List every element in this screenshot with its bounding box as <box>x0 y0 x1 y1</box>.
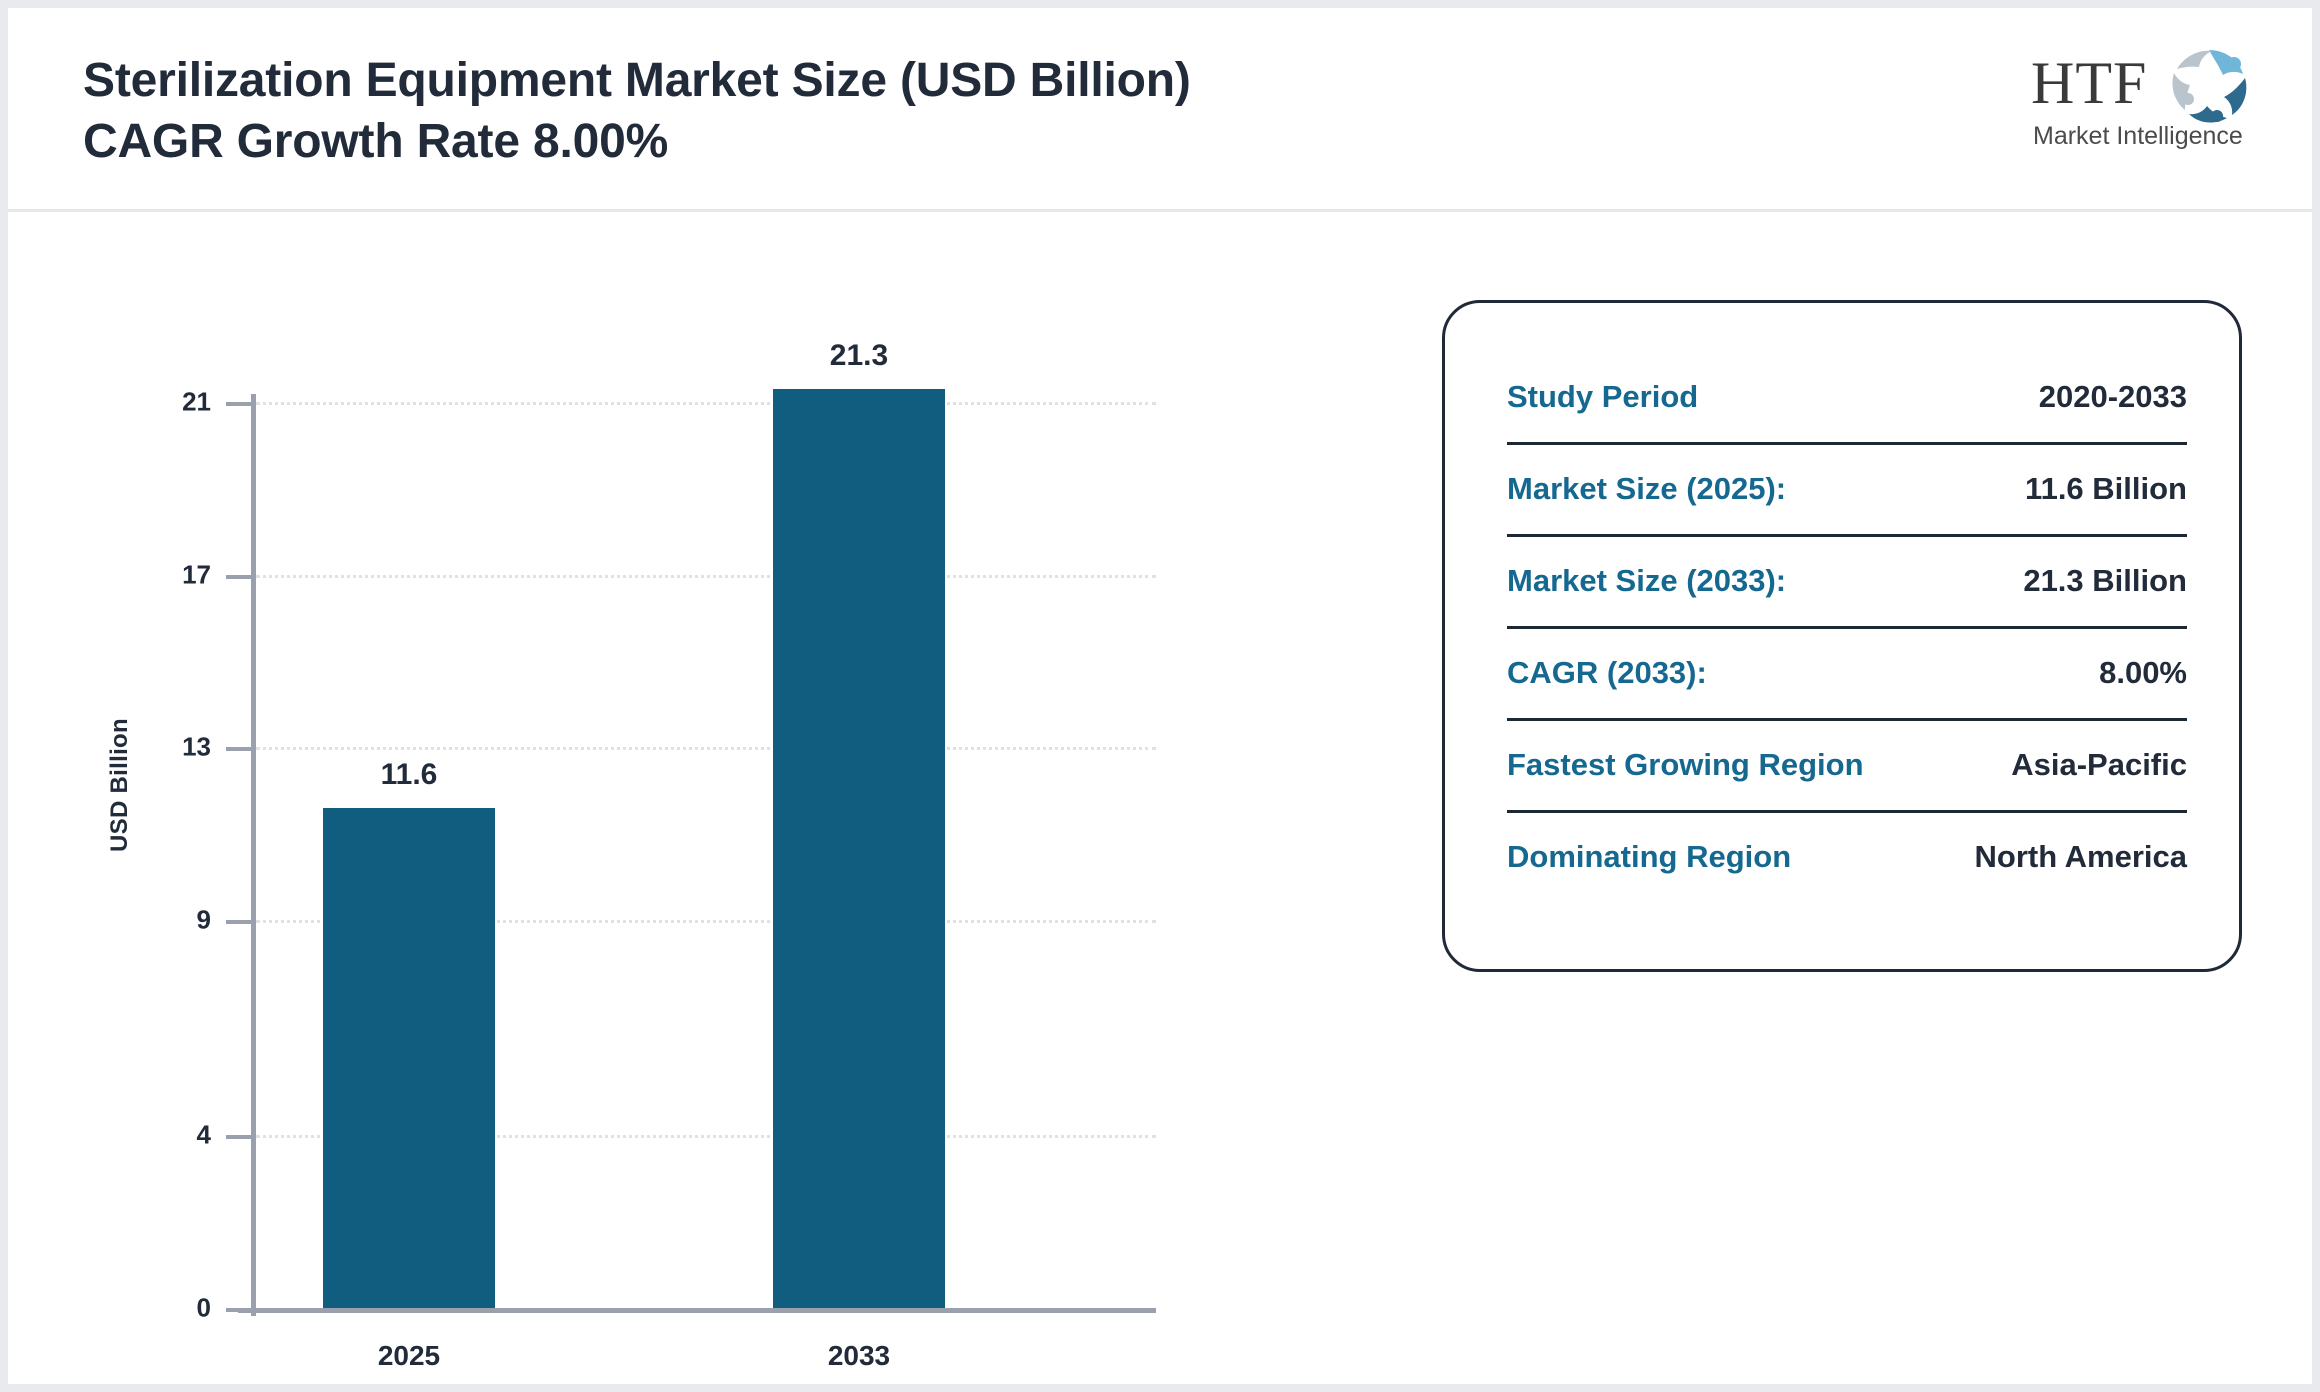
y-tick-label: 13 <box>91 732 211 763</box>
summary-row-value: Asia-Pacific <box>2011 721 2187 783</box>
y-tick-label: 9 <box>91 904 211 935</box>
gridline <box>256 402 1156 405</box>
bar-chart: USD Billion 049131721 11.621.3 20252033 <box>8 212 1288 1382</box>
bar[interactable] <box>773 389 945 1308</box>
summary-row-value: 11.6 Billion <box>2025 445 2187 507</box>
bar[interactable] <box>323 808 495 1308</box>
y-tick-label: 4 <box>91 1120 211 1151</box>
summary-row: Dominating RegionNorth America <box>1507 813 2187 905</box>
logo-mark: HTF <box>2027 44 2259 124</box>
summary-row-value: North America <box>1975 813 2187 875</box>
market-summary-table: Study Period2020-2033Market Size (2025):… <box>1507 353 2187 905</box>
summary-row-value: 2020-2033 <box>2039 353 2187 415</box>
summary-row-label: Dominating Region <box>1507 813 1791 875</box>
y-tick-label: 21 <box>91 387 211 418</box>
summary-row-label: Study Period <box>1507 353 1698 415</box>
summary-row: Market Size (2033):21.3 Billion <box>1507 537 2187 629</box>
x-axis-label: 2025 <box>283 1340 535 1372</box>
summary-row: Fastest Growing RegionAsia-Pacific <box>1507 721 2187 813</box>
report-card: Sterilization Equipment Market Size (USD… <box>8 8 2312 1384</box>
summary-row-value: 8.00% <box>2099 629 2187 691</box>
y-tick-label: 17 <box>91 559 211 590</box>
summary-row-label: Market Size (2033): <box>1507 537 1786 599</box>
y-tick-mark <box>226 1135 251 1139</box>
y-tick-label: 0 <box>91 1293 211 1324</box>
bar-value-label: 21.3 <box>733 339 985 373</box>
plot-area: 049131721 11.621.3 20252033 <box>256 402 1156 1308</box>
y-tick-mark <box>226 575 251 579</box>
y-axis-line <box>251 394 256 1316</box>
header-bar: Sterilization Equipment Market Size (USD… <box>8 8 2312 212</box>
htf-circular-figures-emblem <box>2165 44 2255 124</box>
page-title: Sterilization Equipment Market Size (USD… <box>83 50 1333 173</box>
logo-tagline: Market Intelligence <box>2033 122 2243 151</box>
summary-row-label: CAGR (2033): <box>1507 629 1707 691</box>
y-tick-mark <box>226 747 251 751</box>
summary-row-label: Fastest Growing Region <box>1507 721 1864 783</box>
brand-logo: HTF Market Intelligence <box>2027 44 2259 156</box>
logo-wordmark: HTF <box>2031 52 2147 114</box>
market-summary-panel: Study Period2020-2033Market Size (2025):… <box>1442 300 2242 972</box>
summary-row: Market Size (2025):11.6 Billion <box>1507 445 2187 537</box>
bar-value-label: 11.6 <box>283 758 535 792</box>
y-tick-mark <box>226 402 251 406</box>
gridline <box>256 575 1156 578</box>
summary-row: CAGR (2033):8.00% <box>1507 629 2187 721</box>
summary-row-value: 21.3 Billion <box>2023 537 2187 599</box>
gridline <box>256 747 1156 750</box>
summary-row-label: Market Size (2025): <box>1507 445 1786 507</box>
x-axis-line <box>238 1308 1156 1313</box>
summary-row: Study Period2020-2033 <box>1507 353 2187 445</box>
x-axis-label: 2033 <box>733 1340 985 1372</box>
y-tick-mark <box>226 920 251 924</box>
